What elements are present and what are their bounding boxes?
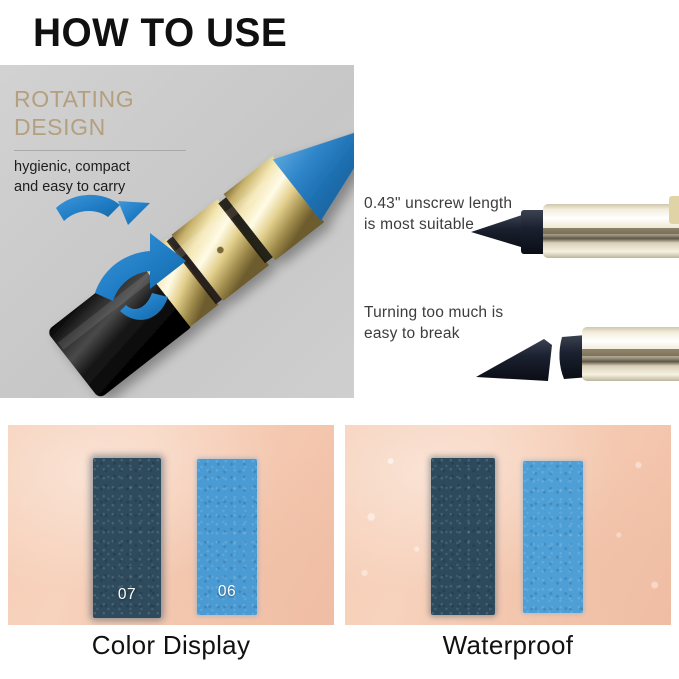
swatch-07: 07 <box>93 458 161 618</box>
waterproof-panel <box>345 425 671 625</box>
infographic-page: HOW TO USE ROTATING DESIGN hygienic, com… <box>0 0 679 679</box>
pencil-illustration <box>0 65 354 398</box>
swatch-texture <box>431 458 495 615</box>
skin-background <box>8 425 334 625</box>
color-display-panel: 07 06 <box>8 425 334 625</box>
skin-background-wet <box>345 425 671 625</box>
page-title: HOW TO USE <box>33 13 287 53</box>
rotating-design-panel: ROTATING DESIGN hygienic, compact and ea… <box>0 65 354 398</box>
swatch-dark-waterproof <box>431 458 495 615</box>
photo-broken-tip <box>474 315 679 395</box>
photo-correct-length <box>469 192 679 272</box>
swatch-texture <box>523 461 583 613</box>
caption-waterproof: Waterproof <box>345 630 671 661</box>
pencil-barrel-seam <box>582 349 679 356</box>
swatch-light-waterproof <box>523 461 583 613</box>
swatch-code: 07 <box>93 586 161 604</box>
swatch-06: 06 <box>197 459 257 615</box>
caption-color-display: Color Display <box>8 630 334 661</box>
swatch-code: 06 <box>197 583 257 601</box>
pencil-gold-collar <box>669 196 679 224</box>
broken-lead-fragment <box>476 339 552 381</box>
pencil-barrel-seam <box>543 228 679 234</box>
pencil-body <box>46 100 354 398</box>
usage-tips-panel: 0.43" unscrew length is most suitable <box>354 172 679 412</box>
